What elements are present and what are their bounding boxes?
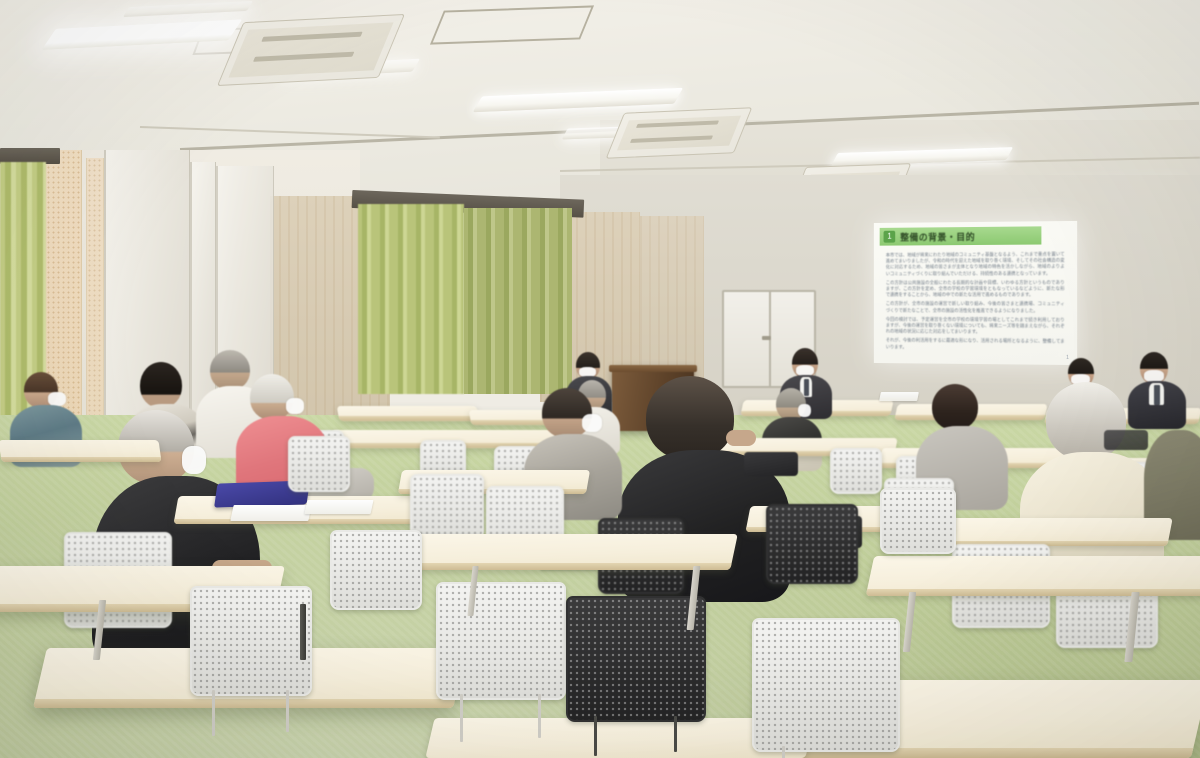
table-back-4 — [337, 406, 480, 421]
projection-screen: 1 整備の背景・目的 本市では、地域が将来にわたり地域のコミュニティ基盤となるよ… — [874, 221, 1077, 365]
slide-body-text: 本市では、地域が将来にわたり地域のコミュニティ基盤となるよう、これまで重点を置い… — [886, 251, 1065, 350]
attendee-7-mask — [798, 404, 811, 417]
attendee-2-head — [250, 374, 294, 420]
table-midfront-4 — [927, 518, 1172, 546]
chair-front-1[interactable] — [190, 586, 312, 696]
chair-back-4[interactable] — [830, 448, 882, 494]
official-1-tie — [1154, 385, 1160, 405]
slide-paragraph-4: 今回の検討では、予定運営を全市の学校の環境学習の場としてこれまで続き利用しており… — [886, 317, 1065, 336]
lectern-top-surface — [609, 365, 697, 372]
table-front-right — [866, 556, 1200, 596]
slide-number-badge: 1 — [884, 231, 896, 243]
handout-paper-6[interactable] — [879, 392, 919, 401]
ac-diffuser-1 — [217, 14, 405, 86]
presenter-tie — [804, 379, 809, 396]
attendee-1-mask — [182, 446, 206, 474]
attendee-5b-head — [210, 350, 250, 390]
chair-front-6[interactable] — [330, 530, 422, 610]
bag-3 — [1104, 430, 1148, 450]
chair-mid-2[interactable] — [288, 436, 350, 492]
bag-2 — [744, 452, 798, 476]
door-handle[interactable] — [762, 336, 771, 340]
slide-paragraph-3: この方針が、全市の施設の運営で新しい取り組み、今後の皆さまと連携場、コミュニティ… — [886, 301, 1065, 314]
chair-front-3[interactable] — [566, 596, 706, 722]
chair-front-2[interactable] — [436, 582, 566, 700]
chair-front-5[interactable] — [880, 488, 956, 554]
handout-paper-2[interactable] — [305, 500, 374, 514]
attendee-4-head — [140, 362, 182, 408]
ac-diffuser-2 — [606, 107, 753, 158]
curtain-panel-left — [358, 204, 464, 394]
slide-paragraph-2: この方針は公共施設の全般にわたる長期的な計画や目標、いわゆる方針というものであり… — [886, 280, 1065, 299]
table-leg-2 — [300, 604, 306, 660]
acoustic-panel-2 — [86, 158, 104, 430]
slide-paragraph-1: 本市では、地域が将来にわたり地域のコミュニティ基盤となるよう、これまで重点を置い… — [886, 251, 1065, 277]
attendee-8-mask — [582, 414, 602, 432]
attendee-2-mask — [286, 398, 304, 414]
meeting-room-photo: 1 整備の背景・目的 本市では、地域が将来にわたり地域のコミュニティ基盤となるよ… — [0, 0, 1200, 758]
handout-paper-1[interactable] — [230, 505, 311, 521]
attendee-6-head — [646, 376, 734, 460]
attendee-3-mask — [48, 392, 66, 406]
table-front-center — [400, 534, 738, 570]
curtain-panel-right — [464, 208, 572, 394]
chair-mid-6[interactable] — [766, 504, 858, 584]
attendee-10-head — [932, 384, 978, 430]
slide-title: 整備の背景・目的 — [900, 229, 975, 243]
ceiling-access-hatch-1 — [430, 5, 594, 44]
slide-page-number: 1 — [1066, 355, 1069, 361]
wood-wall-panel-center-2 — [640, 216, 704, 386]
attendee-6-hand — [726, 430, 756, 446]
table-midfront-left — [0, 440, 162, 462]
chair-front-4[interactable] — [752, 618, 900, 752]
slide-paragraph-5: それが、今後の利活用をするに最適な形になり、活用される場所となるように、整備して… — [886, 338, 1065, 351]
slide-header-bar: 1 整備の背景・目的 — [880, 226, 1042, 245]
